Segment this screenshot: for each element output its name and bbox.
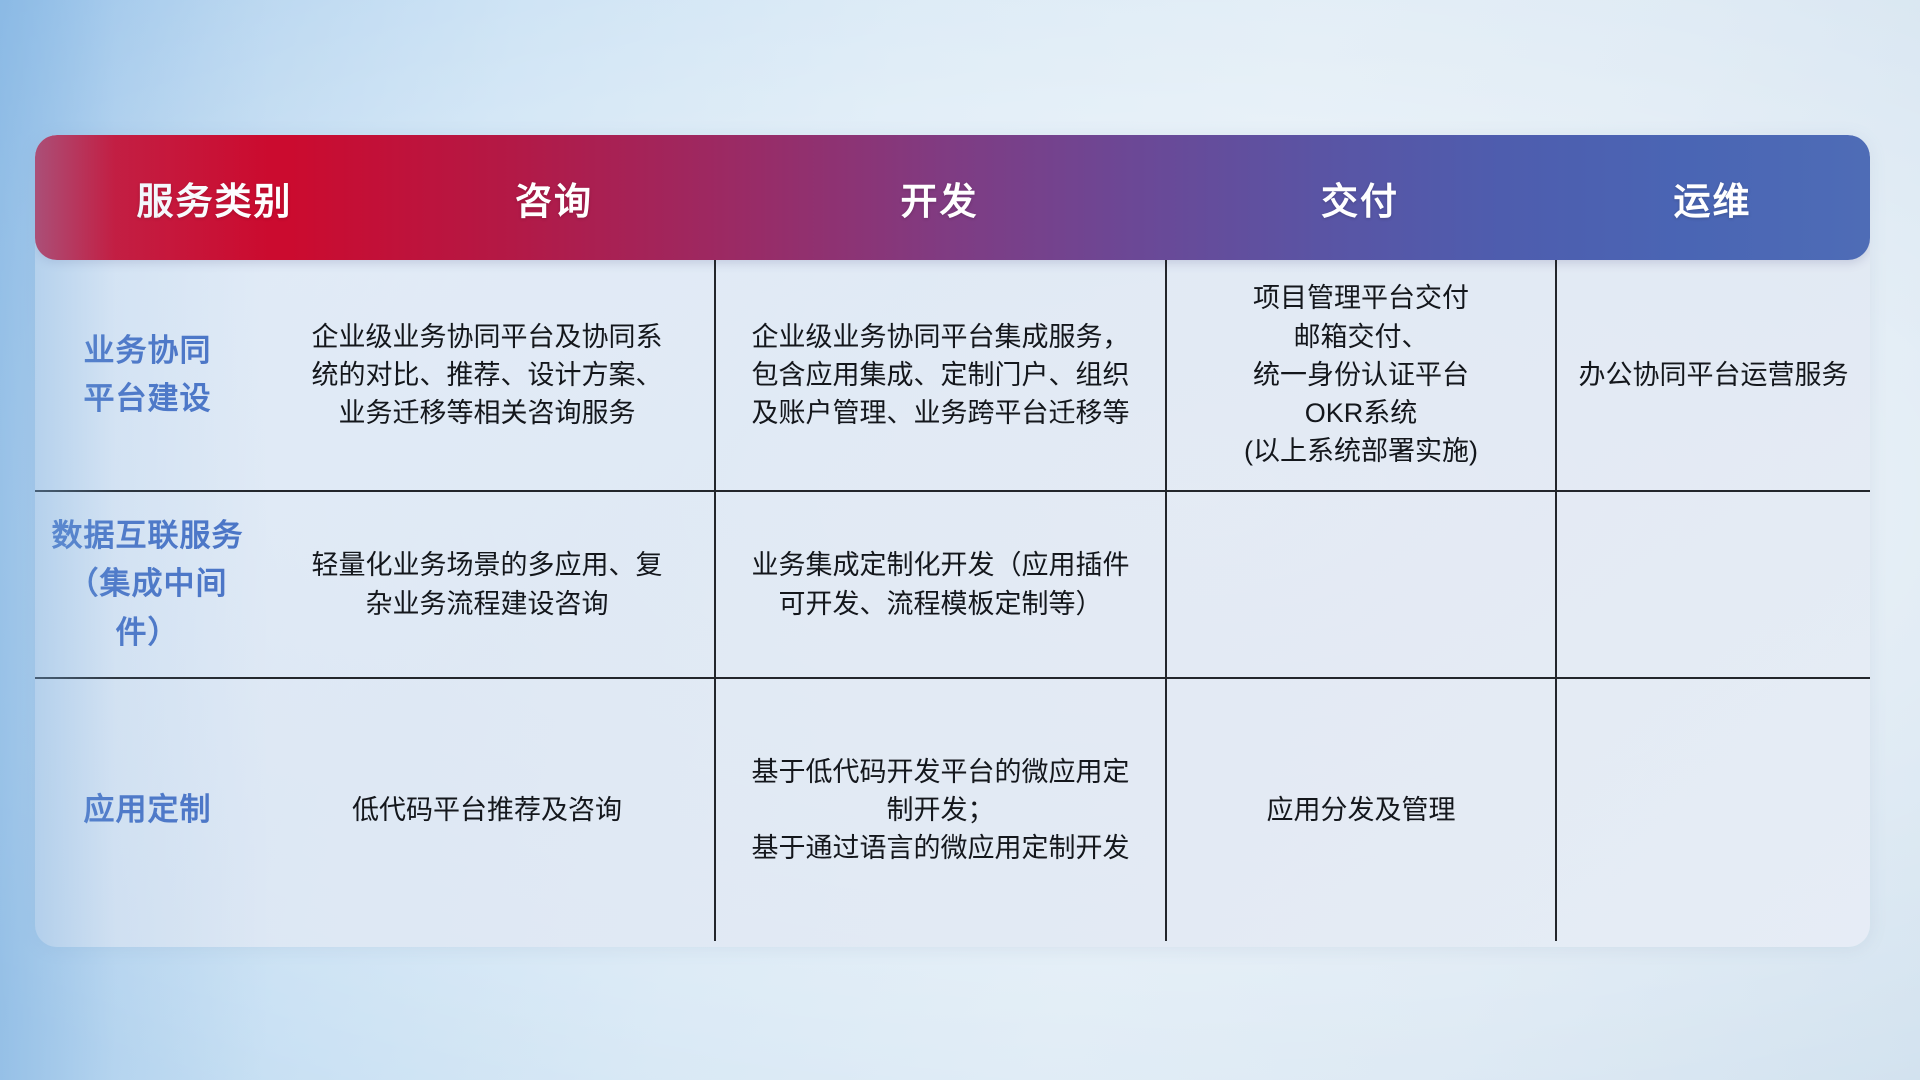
cell-text-development: 基于低代码开发平台的微应用定 制开发； 基于通过语言的微应用定制开发: [752, 753, 1130, 868]
cell-text-development: 业务集成定制化开发（应用插件 可开发、流程模板定制等）: [752, 546, 1130, 623]
header-label-delivery: 交付: [1321, 171, 1399, 225]
cell-consulting: 轻量化业务场景的多应用、复 杂业务流程建设咨询: [260, 492, 714, 677]
table-header-cell-category: 服务类别: [35, 135, 394, 260]
cell-text-consulting: 企业级业务协同平台及协同系 统的对比、推荐、设计方案、 业务迁移等相关咨询服务: [312, 318, 663, 433]
table-header-row: 服务类别 咨询 开发 交付 运维: [35, 135, 1870, 260]
row-category-cell: 应用定制: [35, 679, 260, 941]
row-category-cell: 数据互联服务 （集成中间件）: [35, 492, 260, 677]
header-label-category: 服务类别: [137, 171, 293, 225]
cell-operations: 办公协同平台运营服务: [1555, 260, 1870, 490]
cell-text-development: 企业级业务协同平台集成服务， 包含应用集成、定制门户、组织 及账户管理、业务跨平…: [752, 318, 1130, 433]
cell-delivery: [1165, 492, 1555, 677]
cell-text-delivery: 项目管理平台交付 邮箱交付、 统一身份认证平台 OKR系统 (以上系统部署实施): [1244, 279, 1478, 471]
row-category-label: 数据互联服务 （集成中间件）: [47, 512, 248, 656]
header-label-consulting: 咨询: [515, 171, 593, 225]
cell-operations: [1555, 679, 1870, 941]
table-header-cell-consulting: 咨询: [394, 135, 714, 260]
header-label-operations: 运维: [1674, 171, 1752, 225]
table-row: 数据互联服务 （集成中间件） 轻量化业务场景的多应用、复 杂业务流程建设咨询 业…: [35, 490, 1870, 677]
cell-text-consulting: 轻量化业务场景的多应用、复 杂业务流程建设咨询: [312, 546, 663, 623]
cell-development: 企业级业务协同平台集成服务， 包含应用集成、定制门户、组织 及账户管理、业务跨平…: [714, 260, 1165, 490]
row-category-label: 业务协同 平台建设: [84, 327, 212, 423]
table-row: 应用定制 低代码平台推荐及咨询 基于低代码开发平台的微应用定 制开发； 基于通过…: [35, 677, 1870, 941]
cell-consulting: 低代码平台推荐及咨询: [260, 679, 714, 941]
table-body: 业务协同 平台建设 企业级业务协同平台及协同系 统的对比、推荐、设计方案、 业务…: [35, 260, 1870, 947]
table-row: 业务协同 平台建设 企业级业务协同平台及协同系 统的对比、推荐、设计方案、 业务…: [35, 260, 1870, 490]
cell-delivery: 项目管理平台交付 邮箱交付、 统一身份认证平台 OKR系统 (以上系统部署实施): [1165, 260, 1555, 490]
cell-text-delivery: 应用分发及管理: [1267, 791, 1456, 829]
row-category-cell: 业务协同 平台建设: [35, 260, 260, 490]
header-label-development: 开发: [901, 171, 979, 225]
slide-canvas: 服务类别 咨询 开发 交付 运维 业务协同 平台建设 企业级业务协同平台及协同系…: [0, 0, 1920, 1080]
cell-development: 业务集成定制化开发（应用插件 可开发、流程模板定制等）: [714, 492, 1165, 677]
cell-text-consulting: 低代码平台推荐及咨询: [352, 791, 622, 829]
cell-text-operations: 办公协同平台运营服务: [1579, 356, 1849, 394]
cell-consulting: 企业级业务协同平台及协同系 统的对比、推荐、设计方案、 业务迁移等相关咨询服务: [260, 260, 714, 490]
table-header-cell-operations: 运维: [1555, 135, 1870, 260]
cell-development: 基于低代码开发平台的微应用定 制开发； 基于通过语言的微应用定制开发: [714, 679, 1165, 941]
table-header-cell-development: 开发: [714, 135, 1165, 260]
service-matrix-table: 服务类别 咨询 开发 交付 运维 业务协同 平台建设 企业级业务协同平台及协同系…: [35, 135, 1870, 947]
cell-operations: [1555, 492, 1870, 677]
cell-delivery: 应用分发及管理: [1165, 679, 1555, 941]
row-category-label: 应用定制: [84, 786, 212, 834]
table-header-cell-delivery: 交付: [1165, 135, 1555, 260]
